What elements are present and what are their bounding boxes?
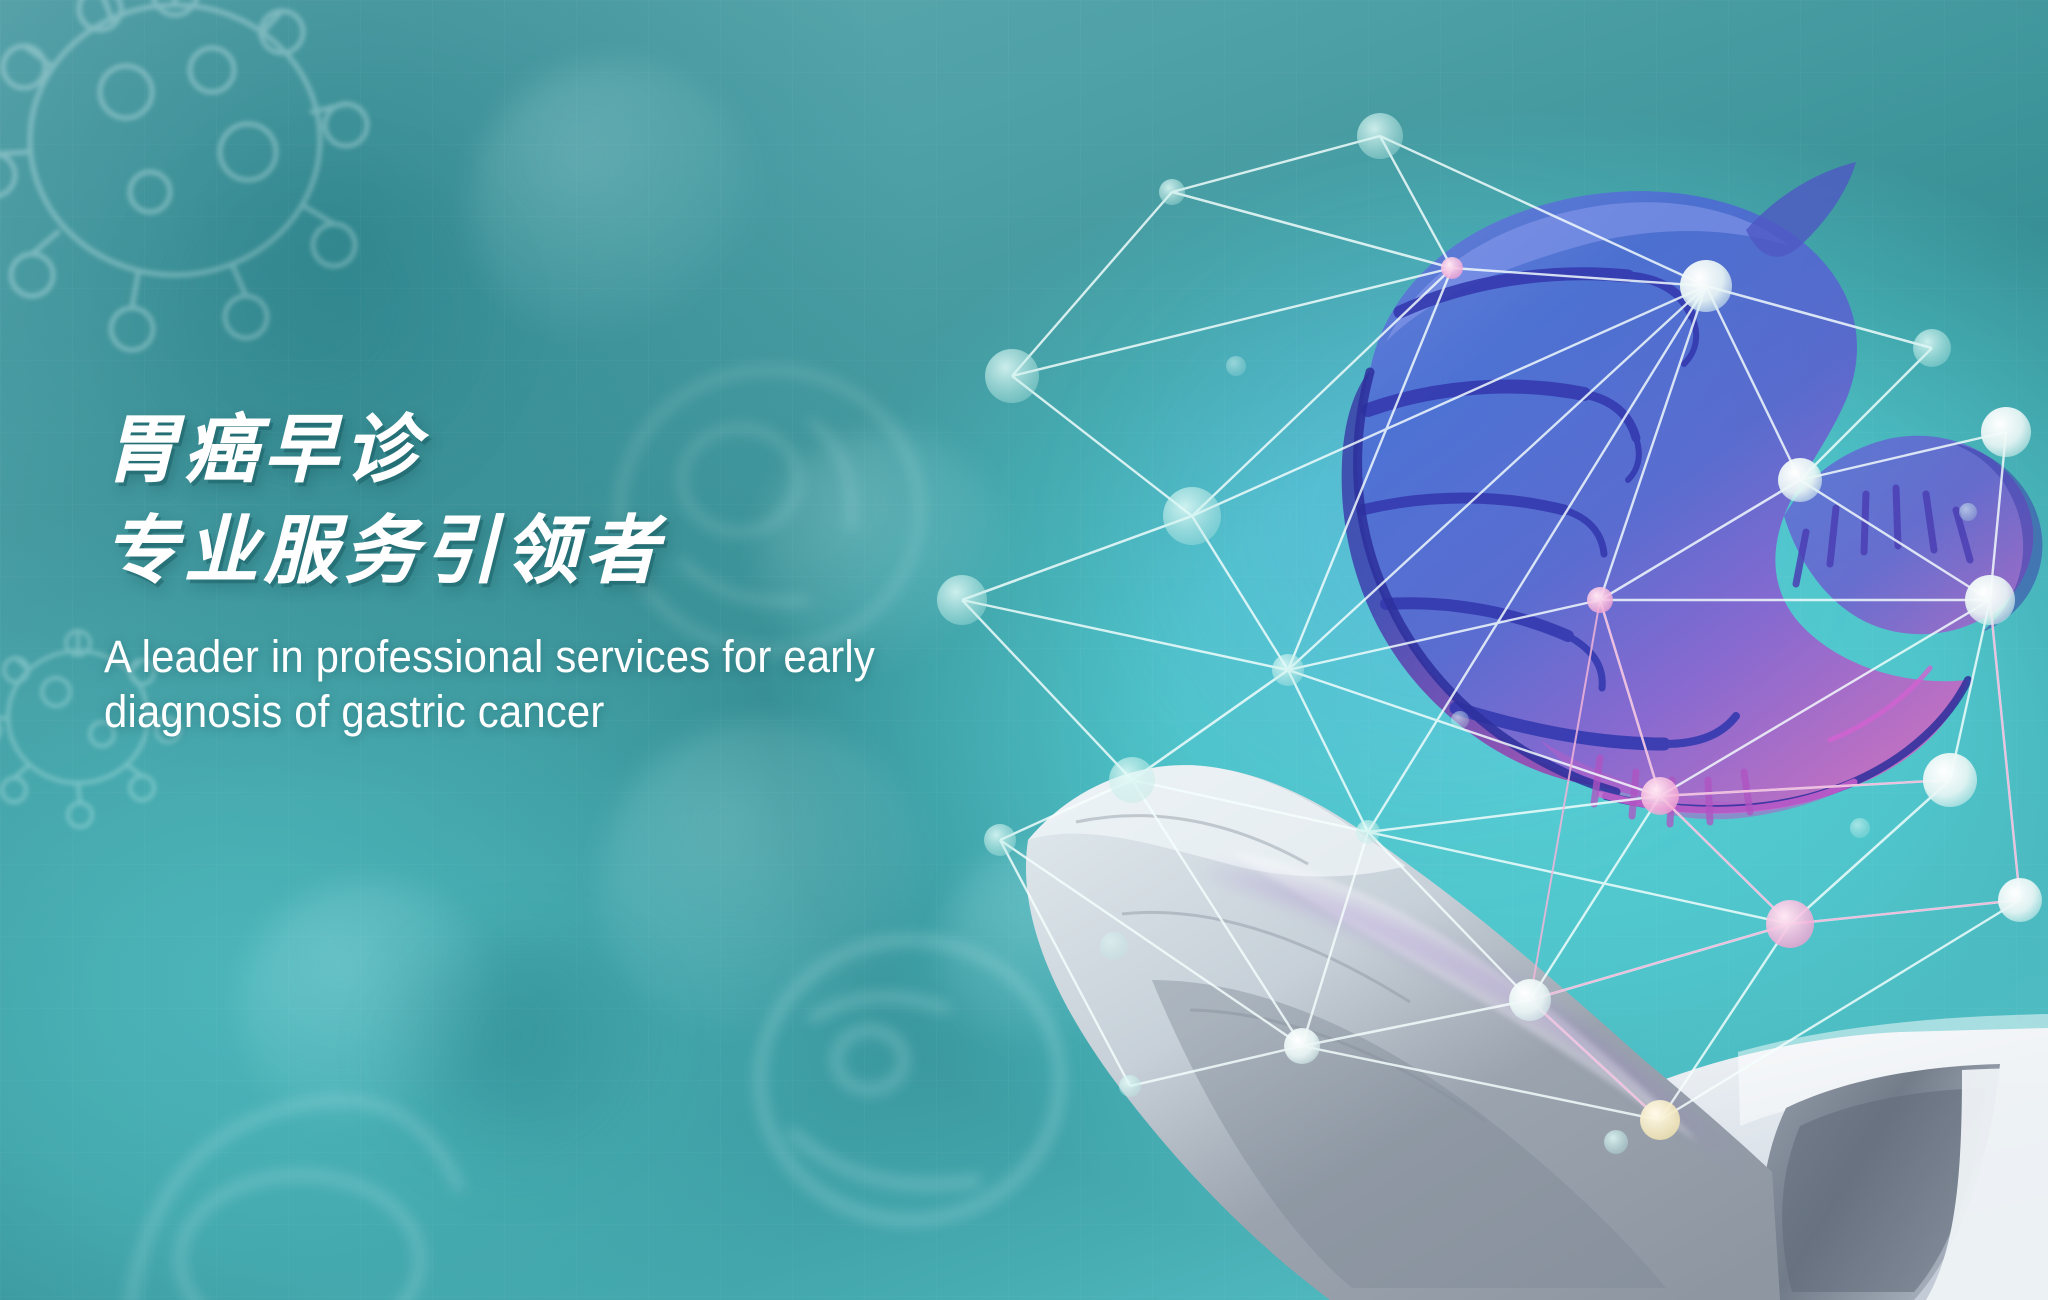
organ-glow xyxy=(1080,190,1840,890)
headline-line-1: 胃癌早诊 xyxy=(104,406,1084,493)
hero-copy: 胃癌早诊 专业服务引领者 A leader in professional se… xyxy=(104,406,1084,740)
page-subtitle: A leader in professional services for ea… xyxy=(104,629,1015,741)
headline-line-2: 专业服务引领者 xyxy=(104,507,1084,594)
subtitle-line-2: diagnosis of gastric cancer xyxy=(104,684,1015,740)
page-title: 胃癌早诊 专业服务引领者 xyxy=(104,406,1084,595)
subtitle-line-1: A leader in professional services for ea… xyxy=(104,629,1015,685)
hero-banner: 胃癌早诊 专业服务引领者 A leader in professional se… xyxy=(0,0,2048,1300)
